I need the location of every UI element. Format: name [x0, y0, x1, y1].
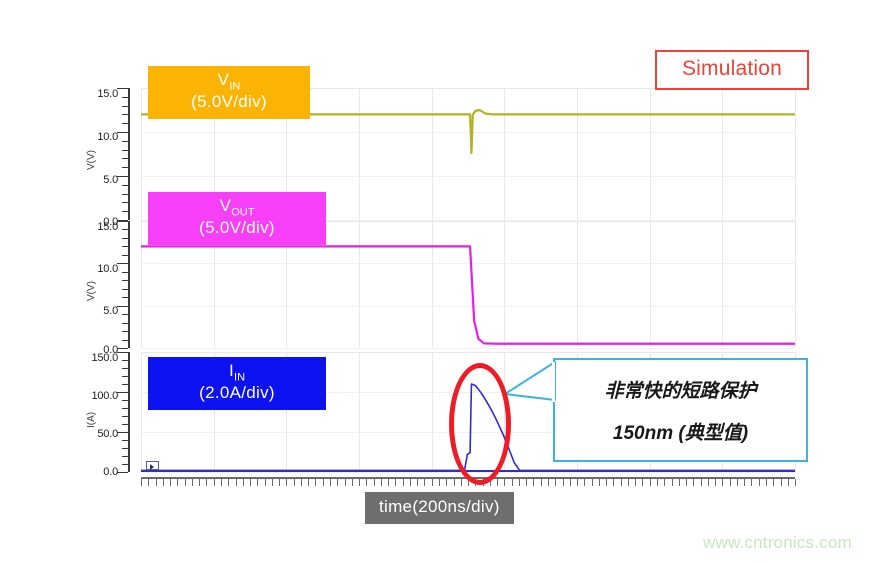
- y-axis-tick: [122, 376, 128, 377]
- time-axis-tick: [730, 479, 731, 486]
- time-axis-tick: [672, 479, 673, 486]
- time-axis-tick: [548, 479, 549, 486]
- y-axis-tick: [122, 211, 128, 212]
- time-axis-tick: [395, 479, 396, 486]
- time-axis-tick: [170, 479, 171, 486]
- time-axis-tick: [257, 479, 258, 486]
- y-axis-tick: [122, 384, 128, 385]
- time-axis-tick: [410, 479, 411, 486]
- time-axis-tick: [628, 479, 629, 486]
- y-axis-tick: [117, 352, 128, 353]
- y-axis-tick: [122, 297, 128, 298]
- y-axis-tick: [117, 88, 128, 89]
- time-axis-tick: [693, 479, 694, 486]
- time-axis-tick: [366, 479, 367, 486]
- time-axis-tick: [715, 479, 716, 486]
- time-axis-tick: [381, 479, 382, 486]
- time-axis-tick: [243, 479, 244, 486]
- time-axis-tick: [294, 479, 295, 486]
- y-axis-tick: [122, 97, 128, 98]
- time-axis-tick: [417, 479, 418, 486]
- y-axis-tick: [122, 314, 128, 315]
- y-axis-tick: [122, 440, 128, 441]
- time-axis-tick: [737, 479, 738, 486]
- time-axis-tick: [512, 479, 513, 486]
- time-axis-tick: [657, 479, 658, 486]
- y-axis-tick: [122, 114, 128, 115]
- y-axis-tick: [117, 348, 128, 349]
- legend-chip-iin-scale: (2.0A/div): [148, 384, 326, 402]
- time-axis-tick: [308, 479, 309, 486]
- time-axis-tick: [148, 479, 149, 486]
- time-axis-tick: [337, 479, 338, 486]
- y-axis-tick-label: 5.0: [56, 174, 118, 186]
- y-axis-tick-label: 150.0: [56, 352, 118, 364]
- y-axis-tick: [122, 167, 128, 168]
- time-axis-tick: [439, 479, 440, 486]
- time-axis-tick: [708, 479, 709, 486]
- time-axis-tick: [461, 479, 462, 486]
- y-axis-tick: [122, 464, 128, 465]
- y-axis-tick: [122, 272, 128, 273]
- y-axis-tick: [122, 150, 128, 151]
- y-axis-tick-label: 10.0: [56, 131, 118, 143]
- time-axis-tick: [403, 479, 404, 486]
- spike-highlight-ellipse: [449, 363, 511, 485]
- time-axis-tick: [744, 479, 745, 486]
- y-axis-tick: [117, 472, 128, 473]
- site-watermark: www.cntronics.com: [703, 533, 852, 553]
- y-axis-tick-label: 50.0: [56, 428, 118, 440]
- time-axis-tick: [533, 479, 534, 486]
- y-axis-tick: [122, 202, 128, 203]
- y-axis-spine-2: [128, 352, 130, 472]
- time-axis-tick: [323, 479, 324, 486]
- time-axis-tick: [642, 479, 643, 486]
- time-axis-tick: [635, 479, 636, 486]
- time-axis-tick: [156, 479, 157, 486]
- callout-line-1: 非常快的短路保护: [555, 376, 806, 403]
- time-axis-tick: [606, 479, 607, 486]
- y-axis-tick: [122, 106, 128, 107]
- y-axis-tick: [122, 424, 128, 425]
- y-axis-tick: [117, 176, 128, 177]
- time-axis-tick: [454, 479, 455, 486]
- time-axis-tick: [163, 479, 164, 486]
- time-axis-tick: [592, 479, 593, 486]
- y-axis-tick: [122, 158, 128, 159]
- time-axis-label: time(200ns/div): [365, 492, 514, 524]
- callout-tail-seam: [552, 362, 555, 402]
- time-axis-tick: [206, 479, 207, 486]
- y-axis-title-0: V(V): [86, 150, 97, 170]
- grid-line-vertical: [795, 88, 796, 220]
- y-axis-tick: [122, 194, 128, 195]
- simulation-waveform-figure: 15.010.05.00.0V(V)15.010.05.00.0V(V)150.…: [0, 0, 887, 565]
- y-axis-tick: [122, 323, 128, 324]
- legend-chip-iin: IIN(2.0A/div): [148, 357, 326, 410]
- y-axis-tick-label: 15.0: [56, 221, 118, 233]
- legend-chip-vin-symbol-subscript: IN: [229, 80, 240, 92]
- y-axis-tick: [122, 185, 128, 186]
- time-axis-tick: [584, 479, 585, 486]
- time-axis-tick: [759, 479, 760, 486]
- y-axis-spine-0: [128, 88, 130, 220]
- y-axis-tick: [122, 255, 128, 256]
- time-axis-tick: [185, 479, 186, 486]
- y-axis-tick-label: 100.0: [56, 390, 118, 402]
- legend-chip-vin-symbol-base: V: [218, 70, 230, 89]
- y-axis-tick: [122, 360, 128, 361]
- time-axis-tick: [446, 479, 447, 486]
- time-axis-tick: [773, 479, 774, 486]
- time-axis-tick: [570, 479, 571, 486]
- y-axis-tick: [122, 289, 128, 290]
- y-axis-title-1: V(V): [86, 281, 97, 301]
- trace-start-marker[interactable]: [146, 461, 159, 470]
- time-axis-tick: [526, 479, 527, 486]
- time-axis-tick: [722, 479, 723, 486]
- time-axis-tick: [541, 479, 542, 486]
- legend-chip-vout-symbol-base: V: [220, 196, 232, 215]
- y-axis-tick-label: 5.0: [56, 305, 118, 317]
- time-axis-tick: [497, 479, 498, 486]
- time-axis-tick: [795, 479, 796, 486]
- y-axis-tick: [122, 331, 128, 332]
- time-axis-tick: [563, 479, 564, 486]
- y-axis-tick: [122, 238, 128, 239]
- time-axis-tick: [432, 479, 433, 486]
- legend-chip-vin-symbol: VIN: [148, 71, 310, 93]
- legend-chip-vout-symbol-subscript: OUT: [231, 206, 254, 218]
- y-axis-tick: [122, 340, 128, 341]
- time-axis-tick: [214, 479, 215, 486]
- y-axis-tick: [122, 229, 128, 230]
- time-axis-tick: [621, 479, 622, 486]
- time-axis-tick: [330, 479, 331, 486]
- time-axis-tick: [686, 479, 687, 486]
- time-axis-tick: [265, 479, 266, 486]
- time-axis-tick: [388, 479, 389, 486]
- time-axis-tick: [221, 479, 222, 486]
- y-axis-tick: [122, 141, 128, 142]
- time-axis-tick: [555, 479, 556, 486]
- legend-chip-vin: VIN(5.0V/div): [148, 66, 310, 119]
- legend-chip-iin-symbol-subscript: IN: [234, 371, 245, 383]
- time-axis-tick: [352, 479, 353, 486]
- time-axis-tick: [701, 479, 702, 486]
- y-axis-tick: [122, 400, 128, 401]
- time-axis-tick: [788, 479, 789, 486]
- y-axis-tick: [122, 416, 128, 417]
- y-axis-tick: [122, 448, 128, 449]
- time-axis-tick: [192, 479, 193, 486]
- time-axis-tick: [286, 479, 287, 486]
- simulation-badge: Simulation: [655, 50, 809, 90]
- time-axis-tick: [519, 479, 520, 486]
- time-axis-tick: [359, 479, 360, 486]
- legend-chip-iin-symbol: IIN: [148, 362, 326, 384]
- time-axis-tick: [424, 479, 425, 486]
- y-axis-tick: [122, 280, 128, 281]
- time-axis-tick: [141, 479, 142, 486]
- y-axis-tick: [117, 221, 128, 222]
- time-axis-tick: [236, 479, 237, 486]
- time-axis-tick: [751, 479, 752, 486]
- time-axis-tick: [599, 479, 600, 486]
- time-axis-tick: [374, 479, 375, 486]
- time-axis-tick: [250, 479, 251, 486]
- y-axis-tick: [122, 246, 128, 247]
- time-axis-tick: [199, 479, 200, 486]
- y-axis-tick: [117, 306, 128, 307]
- time-axis-tick: [504, 479, 505, 486]
- time-axis-tick: [650, 479, 651, 486]
- y-axis-tick: [122, 368, 128, 369]
- y-axis-tick: [117, 392, 128, 393]
- time-axis-tick: [613, 479, 614, 486]
- legend-chip-vout-scale: (5.0V/div): [148, 219, 326, 237]
- y-axis-tick: [117, 132, 128, 133]
- grid-line-vertical: [795, 221, 796, 348]
- y-axis-tick: [117, 263, 128, 264]
- y-axis-title-2: I(A): [86, 412, 97, 428]
- grid-line-horizontal: [141, 348, 795, 349]
- time-axis-tick: [177, 479, 178, 486]
- y-axis-tick-label: 15.0: [56, 88, 118, 100]
- time-axis-tick: [279, 479, 280, 486]
- callout-line-2: 150nm (典型值): [555, 418, 806, 445]
- legend-chip-vin-scale: (5.0V/div): [148, 93, 310, 111]
- y-axis-spine-1: [128, 221, 130, 348]
- legend-chip-vout-symbol: VOUT: [148, 197, 326, 219]
- y-axis-tick: [122, 408, 128, 409]
- time-axis-tick: [301, 479, 302, 486]
- time-axis-tick: [664, 479, 665, 486]
- y-axis-tick: [122, 123, 128, 124]
- y-axis-tick-label: 0.0: [56, 466, 118, 478]
- time-axis-tick: [228, 479, 229, 486]
- time-axis-tick: [679, 479, 680, 486]
- time-axis-tick: [345, 479, 346, 486]
- time-axis-tick: [781, 479, 782, 486]
- legend-chip-vout: VOUT(5.0V/div): [148, 192, 326, 245]
- y-axis-tick-label: 10.0: [56, 263, 118, 275]
- y-axis-tick: [117, 432, 128, 433]
- time-axis-tick: [272, 479, 273, 486]
- y-axis-tick: [122, 456, 128, 457]
- time-axis-tick: [315, 479, 316, 486]
- time-axis-tick: [577, 479, 578, 486]
- callout-box: 非常快的短路保护150nm (典型值): [553, 358, 808, 462]
- time-axis-tick: [766, 479, 767, 486]
